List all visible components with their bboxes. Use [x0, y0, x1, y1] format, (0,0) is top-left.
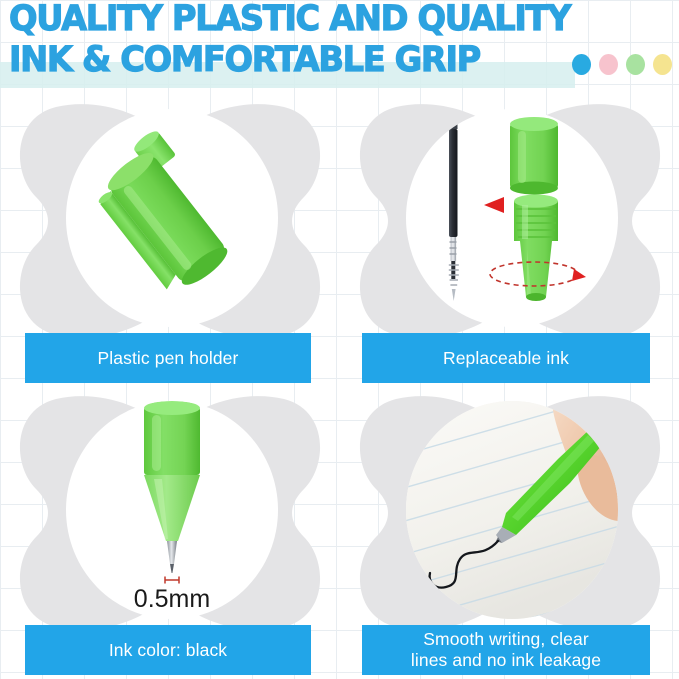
title-line-2: INK & COMFORTABLE GRIP: [9, 40, 585, 81]
card-label: Ink color: black: [25, 625, 311, 675]
header: QUALITY PLASTIC AND QUALITY INK & COMFOR…: [0, 0, 679, 95]
writing-photo: [406, 401, 618, 619]
dot-yellow-icon: [653, 54, 672, 75]
pen-tip-illustration: 0.5mm: [66, 401, 278, 619]
card-label-line-1: Smooth writing, clear: [423, 629, 589, 649]
feature-card-replaceable-ink: Replaceable ink: [340, 95, 679, 387]
dot-green-icon: [626, 54, 645, 75]
card-label: Smooth writing, clear lines and no ink l…: [362, 625, 650, 675]
pen-cap-illustration: [66, 109, 278, 327]
product-image-circle: [406, 401, 618, 619]
card-label-line-2: lines and no ink leakage: [411, 650, 601, 670]
feature-card-ink-color-black: 0.5mm Ink color: black: [0, 387, 339, 679]
svg-text:0.5mm: 0.5mm: [134, 585, 210, 613]
product-image-circle: [406, 109, 618, 327]
product-image-circle: [66, 109, 278, 327]
title-line-1: QUALITY PLASTIC AND QUALITY: [9, 0, 585, 40]
dot-pink-icon: [599, 54, 618, 75]
page-title: QUALITY PLASTIC AND QUALITY INK & COMFOR…: [9, 0, 609, 81]
card-label: Replaceable ink: [362, 333, 650, 383]
card-label-text: Smooth writing, clear lines and no ink l…: [411, 629, 601, 671]
color-swatch-dots: [572, 54, 672, 75]
dot-blue-icon: [572, 54, 591, 75]
feature-card-plastic-pen-holder: Plastic pen holder: [0, 95, 339, 387]
refill-exploded-illustration: [406, 109, 618, 327]
product-image-circle: 0.5mm: [66, 401, 278, 619]
feature-card-smooth-writing: Smooth writing, clear lines and no ink l…: [340, 387, 679, 679]
infographic-page: QUALITY PLASTIC AND QUALITY INK & COMFOR…: [0, 0, 679, 679]
card-label: Plastic pen holder: [25, 333, 311, 383]
